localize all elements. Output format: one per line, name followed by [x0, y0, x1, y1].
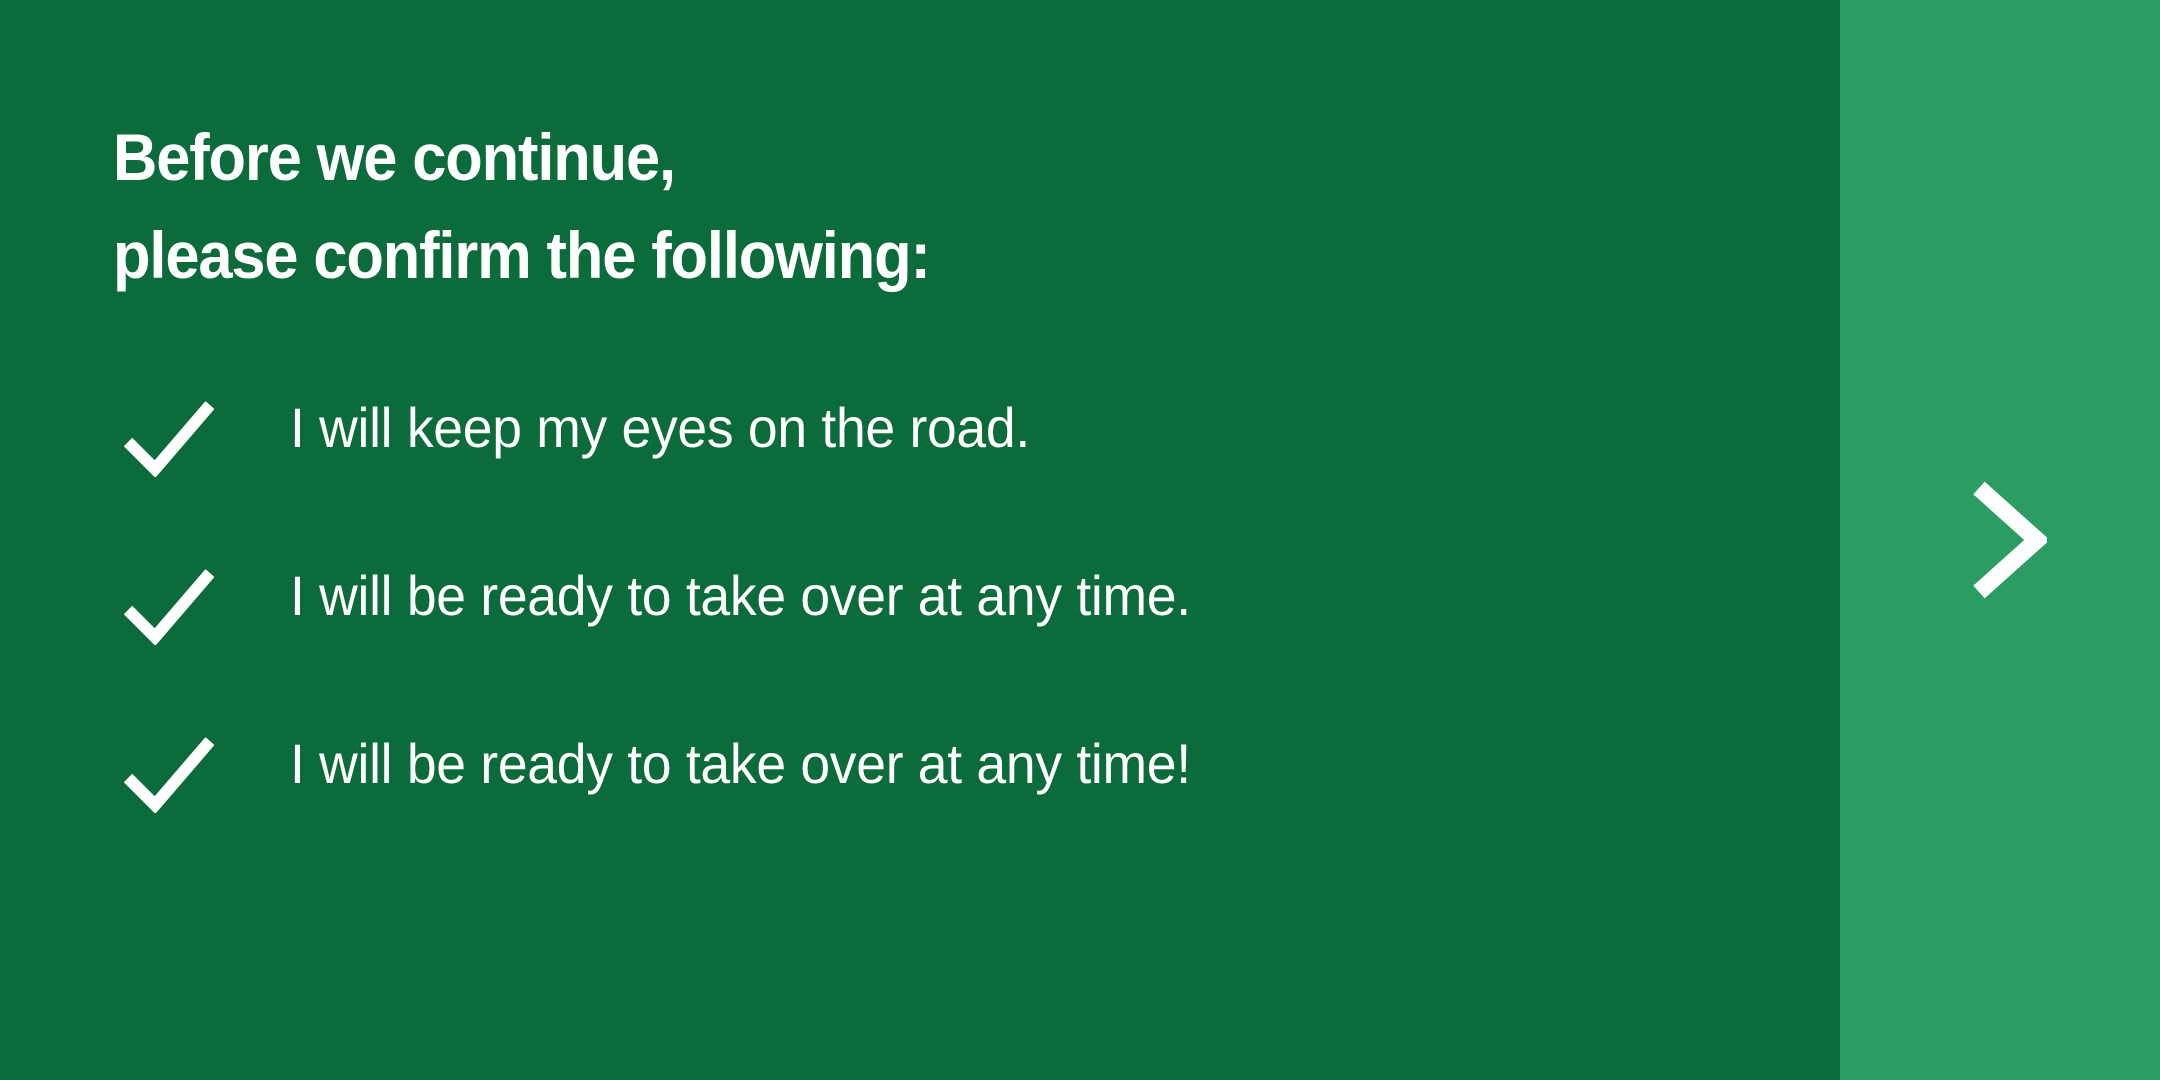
confirmation-list-item[interactable]: I will be ready to take over at any time…	[0, 553, 1840, 721]
check-icon	[124, 565, 214, 645]
next-button[interactable]	[1840, 0, 2160, 1080]
confirmation-item-label: I will keep my eyes on the road.	[290, 385, 1030, 471]
confirmation-item-label: I will be ready to take over at any time…	[290, 553, 1191, 639]
confirmation-list-item[interactable]: I will be ready to take over at any time…	[0, 721, 1840, 889]
page-title-line-2: please confirm the following:	[113, 206, 930, 304]
confirmation-content-panel: Before we continue, please confirm the f…	[0, 0, 1840, 1080]
page-title: Before we continue, please confirm the f…	[113, 108, 930, 304]
confirmation-screen: Before we continue, please confirm the f…	[0, 0, 2160, 1080]
confirmation-list-item[interactable]: I will keep my eyes on the road.	[0, 385, 1840, 553]
confirmation-item-label: I will be ready to take over at any time…	[290, 721, 1191, 807]
check-icon	[124, 733, 214, 813]
chevron-right-icon	[1969, 480, 2047, 600]
check-icon	[124, 397, 214, 477]
confirmation-list: I will keep my eyes on the road. I will …	[0, 385, 1840, 889]
page-title-line-1: Before we continue,	[113, 108, 930, 206]
